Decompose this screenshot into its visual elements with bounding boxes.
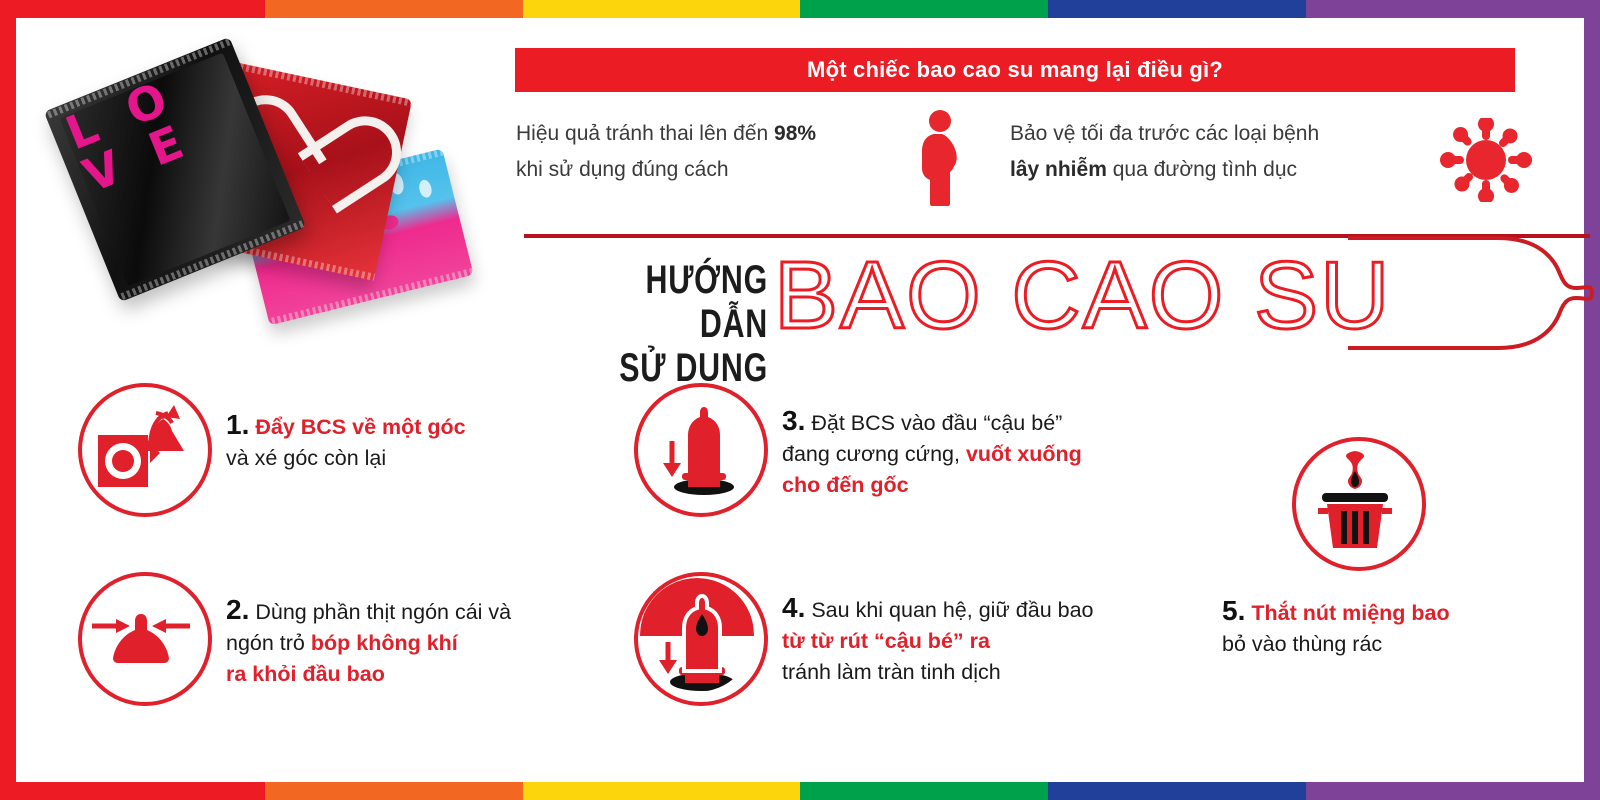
withdraw-condom-icon bbox=[640, 578, 754, 692]
step-5-part-0: Thắt nút miệng bao bbox=[1251, 601, 1449, 625]
pregnant-woman-icon bbox=[910, 110, 966, 206]
step-2-part-2: bóp không khí bbox=[311, 631, 458, 655]
step-1-part-0: Đẩy BCS về một góc bbox=[255, 415, 465, 439]
stripe-segment-2 bbox=[523, 782, 800, 800]
condom-packet-tear-icon bbox=[92, 397, 190, 495]
stripe-segment-4 bbox=[1048, 782, 1306, 800]
benefit-1-line1-pre: Hiệu quả tránh thai lên đến bbox=[516, 122, 774, 145]
step-3-part-0: Đặt BCS vào đầu “cậu bé” bbox=[811, 411, 1062, 435]
main-title: HƯỚNG DẪN SỬ DỤNG BAO CAO SU bbox=[516, 248, 1596, 358]
step-2-number: 2. bbox=[226, 594, 249, 625]
title-small-line1: HƯỚNG DẪN bbox=[580, 258, 768, 346]
benefit-2-line2-post: qua đường tình dục bbox=[1107, 158, 1297, 181]
stripe-segment-4 bbox=[1048, 0, 1306, 18]
stripe-segment-0 bbox=[0, 782, 265, 800]
step-5-text: 5. Thắt nút miệng bao bỏ vào thùng rác bbox=[1222, 595, 1552, 660]
stripe-segment-2 bbox=[523, 0, 800, 18]
benefit-2-bold: lây nhiễm bbox=[1010, 158, 1107, 181]
stripe-segment-1 bbox=[265, 0, 523, 18]
step-3-number: 3. bbox=[782, 405, 805, 436]
step-5-number: 5. bbox=[1222, 595, 1245, 626]
stripe-segment-3 bbox=[800, 0, 1048, 18]
title-big: BAO CAO SU bbox=[774, 244, 1391, 348]
title-small: HƯỚNG DẪN SỬ DỤNG bbox=[580, 258, 768, 390]
title-small-line2: SỬ DỤNG bbox=[580, 346, 768, 390]
banner-title: Một chiếc bao cao su mang lại điều gì? bbox=[515, 48, 1515, 92]
step-4-text: 4. Sau khi quan hệ, giữ đầu bao từ từ rú… bbox=[782, 592, 1202, 688]
trash-bin-icon bbox=[1308, 449, 1402, 551]
benefit-2-text: Bảo vệ tối đa trước các loại bệnh lây nh… bbox=[1010, 116, 1430, 188]
step-2-part-3: ra khỏi đầu bao bbox=[226, 662, 385, 686]
stripe-segment-3 bbox=[800, 782, 1048, 800]
rainbow-stripe-top bbox=[0, 0, 1600, 18]
roll-down-condom-icon bbox=[648, 395, 746, 497]
step-3-part-3: cho đến gốc bbox=[782, 473, 909, 497]
benefit-block-sti: Bảo vệ tối đa trước các loại bệnh lây nh… bbox=[1010, 116, 1430, 188]
step-2-text: 2. Dùng phần thịt ngón cái và ngón trỏ b… bbox=[226, 594, 646, 690]
step-1-part-1: và xé góc còn lại bbox=[226, 446, 386, 470]
benefit-1-text: Hiệu quả tránh thai lên đến 98% khi sử d… bbox=[516, 116, 916, 188]
header-banner: Một chiếc bao cao su mang lại điều gì? bbox=[515, 48, 1515, 92]
benefit-1-percent: 98% bbox=[774, 122, 816, 145]
step-3-text: 3. Đặt BCS vào đầu “cậu bé” đang cương c… bbox=[782, 405, 1202, 501]
step-1-text: 1. Đẩy BCS về một góc và xé góc còn lại bbox=[226, 409, 606, 474]
benefit-block-contraception: Hiệu quả tránh thai lên đến 98% khi sử d… bbox=[516, 116, 916, 188]
condom-packets-photo: L OV E bbox=[55, 52, 475, 342]
left-edge-stripe bbox=[0, 0, 16, 800]
step-3-part-1: đang cương cứng, bbox=[782, 442, 966, 466]
benefit-2-line1: Bảo vệ tối đa trước các loại bệnh bbox=[1010, 122, 1319, 145]
stripe-segment-5 bbox=[1306, 0, 1600, 18]
right-edge-stripe bbox=[1584, 0, 1600, 800]
stripe-segment-5 bbox=[1306, 782, 1600, 800]
condom-outline-icon bbox=[1348, 232, 1600, 354]
step-3-part-2: vuốt xuống bbox=[966, 442, 1082, 466]
step-4-part-2: tránh làm tràn tinh dịch bbox=[782, 660, 1001, 684]
benefit-1-line2: khi sử dụng đúng cách bbox=[516, 158, 729, 181]
step-4-part-0: Sau khi quan hệ, giữ đầu bao bbox=[811, 598, 1093, 622]
virus-icon bbox=[1440, 118, 1532, 202]
step-4-number: 4. bbox=[782, 592, 805, 623]
step-1-number: 1. bbox=[226, 409, 249, 440]
step-2-part-0: Dùng phần thịt ngón cái và bbox=[255, 600, 511, 624]
squeeze-arrows-icon bbox=[88, 586, 194, 684]
step-4-part-1: từ từ rút “cậu bé” ra bbox=[782, 629, 990, 653]
stripe-segment-0 bbox=[0, 0, 265, 18]
stripe-segment-1 bbox=[265, 782, 523, 800]
infographic-page: L OV E Một chiếc bao cao su mang lại điề… bbox=[0, 0, 1600, 800]
rainbow-stripe-bottom bbox=[0, 782, 1600, 800]
step-5-part-1: bỏ vào thùng rác bbox=[1222, 632, 1382, 656]
step-2-part-1: ngón trỏ bbox=[226, 631, 311, 655]
